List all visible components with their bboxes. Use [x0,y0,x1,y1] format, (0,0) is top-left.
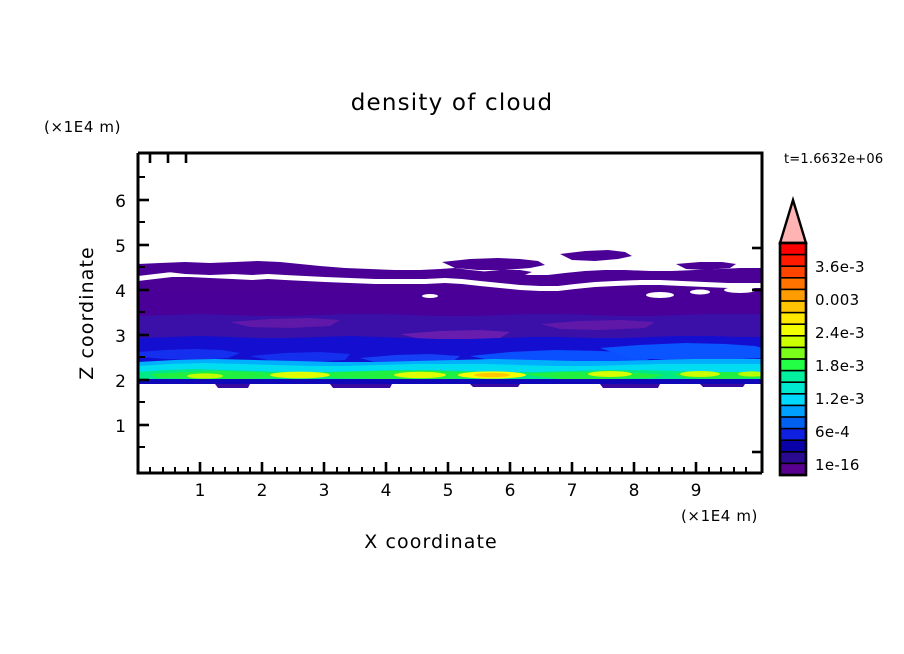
yellow-core-5 [680,371,720,377]
x-tick-label: 7 [567,481,578,501]
orange-core-1 [474,373,510,377]
colorbar-segment [780,382,806,394]
colorbar-segment [780,243,806,255]
colorbar-label: 0.003 [815,291,859,309]
colorbar-segments [780,243,806,475]
colorbar-label: 1e-16 [815,456,860,474]
colorbar-segment [780,405,806,417]
colorbar-label: 1.2e-3 [815,390,865,408]
x-tick-label: 8 [629,481,640,501]
colorbar-label: 3.6e-3 [815,258,865,276]
colorbar-segment [780,324,806,336]
colorbar-segment [780,417,806,429]
colorbar-segment [780,313,806,325]
y-tick-label: 2 [115,372,126,392]
yellow-core-4 [588,371,632,377]
bottom-nub-3 [470,384,520,387]
y-tick-label: 6 [115,192,126,212]
yellow-core-6 [187,373,223,378]
colorbar-segment [780,301,806,313]
cloud-hole-3 [724,287,756,293]
bottom-nub-4 [600,384,660,388]
colorbar-segment [780,371,806,383]
colorbar-segment [780,440,806,452]
yellow-core-2 [394,372,446,378]
cloud-hole-1 [646,292,674,298]
bottom-nub-5 [700,384,745,387]
y-tick-label: 1 [115,417,126,437]
x-axis-title: X coordinate [364,531,498,553]
contour-plot-figure: density of cloud (×1E4 m) t=1.6632e+06 [0,0,904,654]
time-annotation: t=1.6632e+06 [784,152,883,167]
colorbar-segment [780,429,806,441]
colorbar-segment [780,278,806,290]
colorbar-label: 1.8e-3 [815,357,865,375]
colorbar-segment [780,289,806,301]
x-tick-label: 3 [319,481,330,501]
colorbar-segment [780,359,806,371]
colorbar-segment [780,463,806,475]
bottom-nub-1 [215,384,250,388]
colorbar-segment [780,394,806,406]
bottom-rim [138,379,762,384]
colorbar-segment [780,255,806,267]
clear-air-below [138,388,762,473]
cloud-hole-2 [690,290,710,295]
x-tick-label: 4 [381,481,392,501]
page-title: density of cloud [351,90,554,116]
x-axis-unit-label: (×1E4 m) [681,507,758,525]
y-axis-title: Z coordinate [76,246,98,380]
colorbar-segment [780,336,806,348]
plot-data-area [138,153,766,473]
y-axis-unit-label: (×1E4 m) [44,118,121,136]
x-tick-label: 6 [505,481,516,501]
colorbar-label: 6e-4 [815,423,850,441]
y-tick-label: 3 [115,327,126,347]
colorbar-segment [780,452,806,464]
colorbar-segment [780,266,806,278]
x-tick-label: 9 [691,481,702,501]
cloud-hole-4 [422,294,438,298]
x-tick-label: 2 [257,481,268,501]
y-tick-label: 4 [115,282,126,302]
x-tick-label: 5 [443,481,454,501]
colorbar-label: 2.4e-3 [815,324,865,342]
colorbar-segment [780,347,806,359]
yellow-core-1 [270,372,330,379]
bottom-nub-2 [330,384,392,388]
y-tick-label: 5 [115,237,126,257]
x-tick-label: 1 [195,481,206,501]
